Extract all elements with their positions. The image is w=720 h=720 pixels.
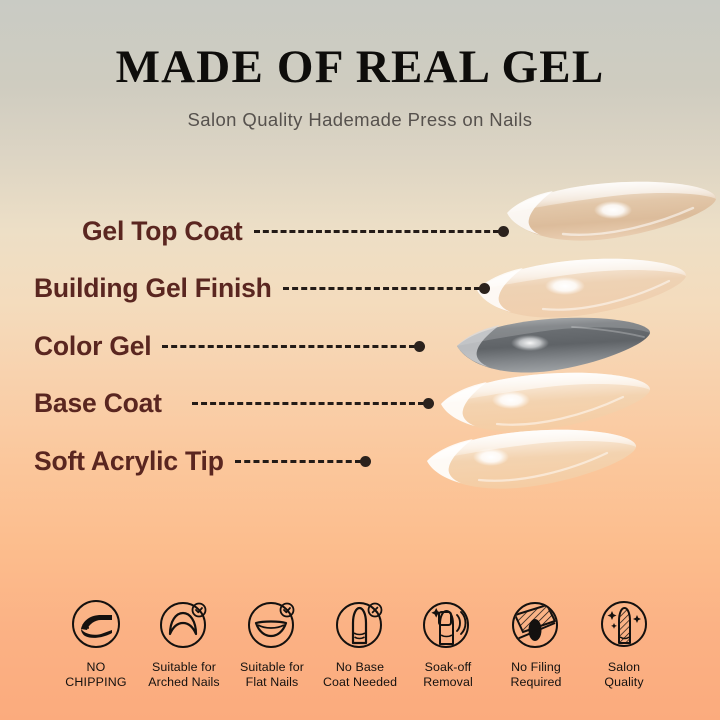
- layer-label-row: Color Gel: [34, 329, 425, 363]
- no-chipping-icon: [52, 596, 140, 652]
- no-filing-icon: [492, 596, 580, 652]
- leader-dot: [498, 226, 509, 237]
- layer-label-gel-top-coat: Gel Top Coat: [82, 216, 243, 247]
- feature-caption: Soak-offRemoval: [404, 660, 492, 690]
- leader-line: [235, 460, 361, 463]
- feature-item: Suitable forArched Nails: [140, 596, 228, 690]
- leader-dot: [414, 341, 425, 352]
- layer-label-row: Gel Top Coat: [82, 214, 509, 248]
- leader-dot: [423, 398, 434, 409]
- soak-off-icon: [404, 596, 492, 652]
- feature-caption: NOCHIPPING: [52, 660, 140, 690]
- leader-line: [254, 230, 499, 233]
- layer-label-base-coat: Base Coat: [34, 388, 162, 419]
- feature-item: No FilingRequired: [492, 596, 580, 690]
- feature-caption: Suitable forFlat Nails: [228, 660, 316, 690]
- layer-label-building-gel-finish: Building Gel Finish: [34, 273, 272, 304]
- flat-nail-icon: [228, 596, 316, 652]
- leader-dot: [479, 283, 490, 294]
- leader-line: [162, 345, 415, 348]
- feature-caption: SalonQuality: [580, 660, 668, 690]
- feature-item: NOCHIPPING: [52, 596, 140, 690]
- layer-label-soft-acrylic-tip: Soft Acrylic Tip: [34, 446, 224, 477]
- layer-label-color-gel: Color Gel: [34, 331, 151, 362]
- salon-quality-icon: [580, 596, 668, 652]
- layer-label-row: Base Coat: [34, 386, 434, 420]
- feature-item: Soak-offRemoval: [404, 596, 492, 690]
- leader-line: [192, 402, 424, 405]
- feature-caption: No BaseCoat Needed: [316, 660, 404, 690]
- arched-nail-icon: [140, 596, 228, 652]
- feature-item: No BaseCoat Needed: [316, 596, 404, 690]
- layer-label-row: Soft Acrylic Tip: [34, 444, 371, 478]
- leader-line: [283, 287, 480, 290]
- no-base-coat-icon: [316, 596, 404, 652]
- feature-item: Suitable forFlat Nails: [228, 596, 316, 690]
- feature-item: SalonQuality: [580, 596, 668, 690]
- layer-label-list: Gel Top Coat Building Gel Finish Color G…: [0, 0, 720, 560]
- leader-dot: [360, 456, 371, 467]
- layer-label-row: Building Gel Finish: [34, 271, 490, 305]
- feature-list: NOCHIPPING Suitable forArched Nails: [0, 596, 720, 690]
- feature-caption: Suitable forArched Nails: [140, 660, 228, 690]
- feature-caption: No FilingRequired: [492, 660, 580, 690]
